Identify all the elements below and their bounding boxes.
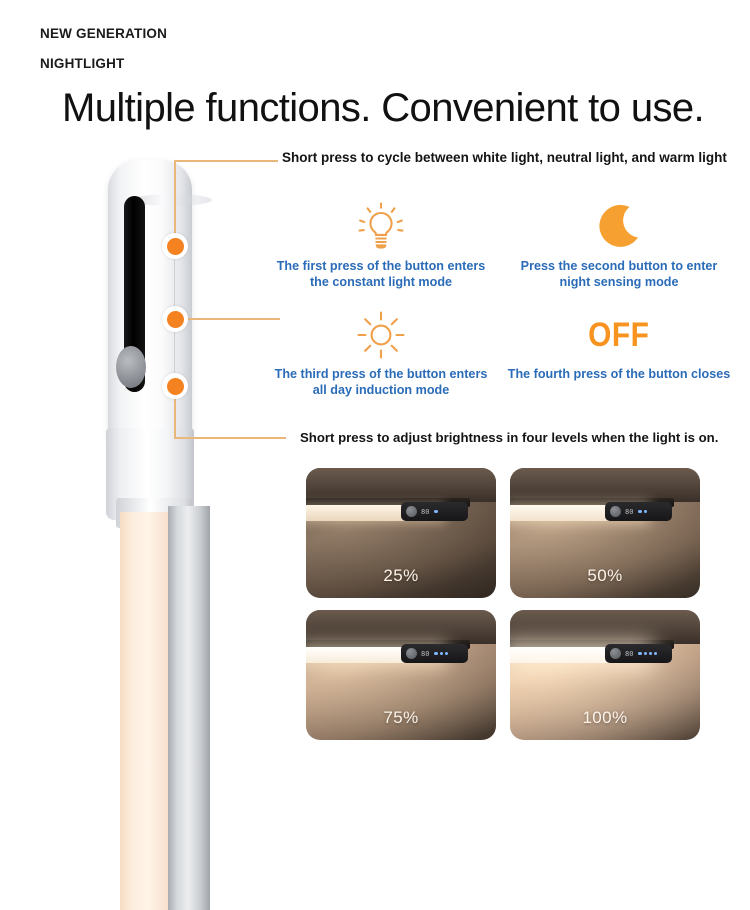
mode-text-line-1: Press the second button to enter xyxy=(521,259,718,273)
product-upper-housing xyxy=(108,160,192,442)
brightness-tile-25: 80 25% xyxy=(306,468,496,598)
tile-panel-leds xyxy=(434,652,448,655)
mode-text-line-2: night sensing mode xyxy=(560,275,679,289)
mode-text-line-1: The third press of the button enters xyxy=(275,367,488,381)
lightbulb-icon xyxy=(262,196,500,258)
brightness-caption: Short press to adjust brightness in four… xyxy=(300,430,730,445)
nightlight-product-photo xyxy=(86,160,226,750)
tile-panel-leds xyxy=(434,510,437,513)
tile-control-panel: 80 xyxy=(401,502,468,521)
mode-all-day-induction: The third press of the button enters all… xyxy=(262,304,500,398)
mode-off: OFF The fourth press of the button close… xyxy=(500,304,738,398)
tile-panel-leds xyxy=(638,510,646,513)
mode-constant-light: The first press of the button enters the… xyxy=(262,196,500,290)
product-glow-bar xyxy=(120,512,170,910)
mode-night-sensing-label: Press the second button to enter night s… xyxy=(500,258,738,290)
tile-ceiling xyxy=(306,468,496,502)
tile-panel-readout: 80 xyxy=(421,650,429,658)
tile-panel-knob xyxy=(610,506,621,517)
tile-panel-readout: 80 xyxy=(625,650,633,658)
brightness-tile-50: 80 50% xyxy=(510,468,700,598)
brightness-label: 50% xyxy=(510,566,700,586)
tile-panel-readout: 80 xyxy=(625,508,633,516)
mode-text-line-1: The fourth press of the button closes xyxy=(508,367,731,381)
tile-panel-knob xyxy=(406,648,417,659)
mode-text-line-2: the constant light mode xyxy=(310,275,452,289)
tile-ceiling xyxy=(510,468,700,502)
mode-all-day-induction-label: The third press of the button enters all… xyxy=(262,366,500,398)
mode-constant-light-label: The first press of the button enters the… xyxy=(262,258,500,290)
off-icon: OFF xyxy=(500,304,738,366)
dot-connector-2 xyxy=(174,332,175,373)
mode-text-line-2: all day induction mode xyxy=(313,383,449,397)
tile-panel-leds xyxy=(638,652,657,655)
dot-connector-1 xyxy=(174,259,175,306)
tile-control-panel: 80 xyxy=(605,644,672,663)
tile-control-panel: 80 xyxy=(401,644,468,663)
product-motion-sensor xyxy=(116,346,146,388)
tile-control-panel: 80 xyxy=(605,502,672,521)
callout-dot-2[interactable] xyxy=(162,306,188,332)
infographic-page: NEW GENERATION NIGHTLIGHT Multiple funct… xyxy=(0,0,750,750)
leader-line-1-vertical xyxy=(174,160,176,240)
tile-panel-knob xyxy=(406,506,417,517)
brightness-tile-grid: 80 25% 80 50% 80 xyxy=(306,468,706,740)
mode-grid: The first press of the button enters the… xyxy=(262,196,738,398)
page-title: Multiple functions. Convenient to use. xyxy=(62,86,722,131)
tile-panel-readout: 80 xyxy=(421,508,429,516)
eyebrow-line-2: NIGHTLIGHT xyxy=(40,56,125,71)
sun-icon xyxy=(262,304,500,366)
brightness-label: 75% xyxy=(306,708,496,728)
mode-text-line-1: The first press of the button enters xyxy=(277,259,486,273)
product-lower-assembly xyxy=(106,512,214,910)
callout-dot-1[interactable] xyxy=(162,233,188,259)
leader-line-1-horizontal xyxy=(174,160,278,162)
mode-row-2: The third press of the button enters all… xyxy=(262,304,738,398)
callout-dot-3[interactable] xyxy=(162,373,188,399)
off-label: OFF xyxy=(588,318,649,352)
mode-row-1: The first press of the button enters the… xyxy=(262,196,738,290)
cycle-light-caption: Short press to cycle between white light… xyxy=(282,150,742,165)
brightness-label: 25% xyxy=(306,566,496,586)
leader-line-3-horizontal xyxy=(174,437,286,439)
tile-ceiling xyxy=(510,610,700,644)
eyebrow-line-1: NEW GENERATION xyxy=(40,26,167,41)
mode-night-sensing: Press the second button to enter night s… xyxy=(500,196,738,290)
product-metal-bar xyxy=(168,506,210,910)
tile-ceiling xyxy=(306,610,496,644)
crescent-moon-icon xyxy=(500,196,738,258)
brightness-tile-75: 80 75% xyxy=(306,610,496,740)
mode-off-label: The fourth press of the button closes xyxy=(500,366,738,382)
brightness-tile-100: 80 100% xyxy=(510,610,700,740)
brightness-label: 100% xyxy=(510,708,700,728)
tile-panel-knob xyxy=(610,648,621,659)
